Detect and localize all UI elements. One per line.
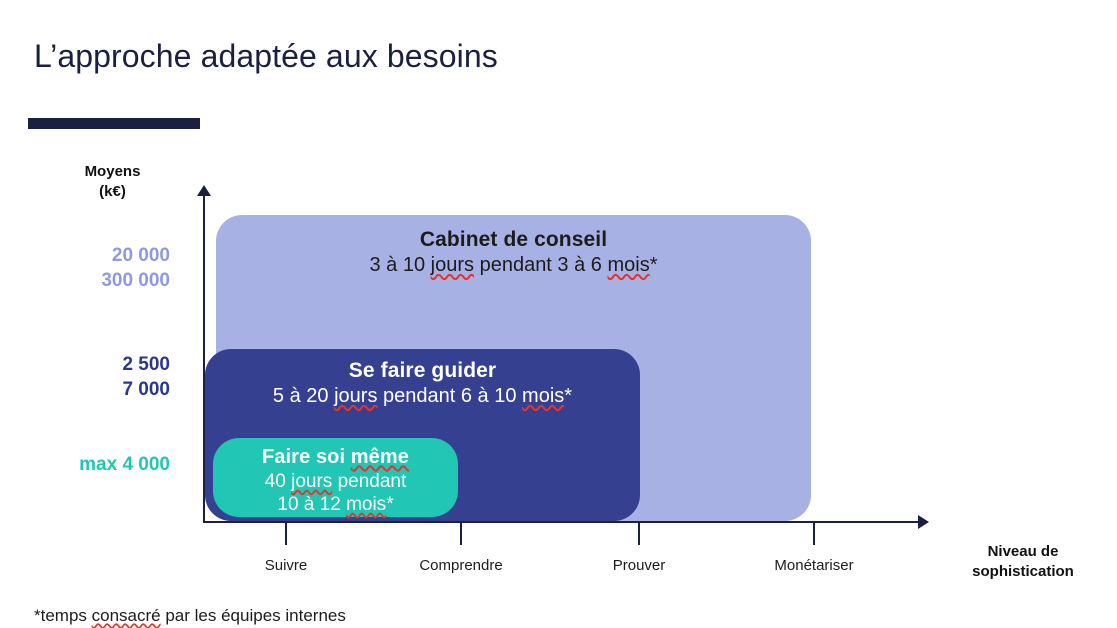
y-axis-title-line2: (k€) [30, 182, 195, 202]
offer-box-subtitle: 3 à 10 jours pendant 3 à 6 mois* [216, 253, 811, 277]
x-tick-mark-suivre [285, 523, 287, 545]
offer-sub-misspelled-jours: jours [334, 385, 377, 407]
y-axis-arrow-icon [197, 185, 211, 196]
offer-box-subtitle-line1: 40 jours pendant [213, 470, 458, 493]
y-label-consulting: 20 000 300 000 [0, 243, 170, 293]
x-axis-title-line1: Niveau de [935, 542, 1111, 562]
offer-sub-part-b: pendant 3 à 6 [474, 254, 607, 276]
offer-sub-asterisk: * [564, 385, 572, 407]
footnote-misspelled-consacre: consacré [92, 606, 161, 625]
offer-box-subtitle-line2: 10 à 12 mois* [213, 493, 458, 516]
x-axis-title: Niveau de sophistication [935, 542, 1111, 582]
x-axis-title-line2: sophistication [935, 562, 1111, 582]
offer-box-subtitle: 5 à 20 jours pendant 6 à 10 mois* [205, 384, 640, 408]
offer-sub-part-b: pendant [332, 471, 406, 492]
x-tick-label-comprendre: Comprendre [376, 557, 546, 574]
y-axis-title-line1: Moyens [30, 162, 195, 182]
title-underline-rule [28, 118, 200, 129]
offer-sub-misspelled-mois: mois [522, 385, 564, 407]
x-tick-label-suivre: Suivre [201, 557, 371, 574]
offer-sub-part-a: 5 à 20 [273, 385, 334, 407]
offer-sub-line2-part-a: 10 à 12 [277, 494, 346, 515]
x-tick-label-prouver: Prouver [554, 557, 724, 574]
offer-box-title: Faire soi même [213, 445, 458, 470]
offer-box-title: Cabinet de conseil [216, 227, 811, 253]
x-tick-mark-monetariser [813, 523, 815, 545]
footnote: *temps consacré par les équipes internes [34, 606, 346, 626]
x-tick-label-monetariser: Monétariser [729, 557, 899, 574]
y-label-guided-line2: 7 000 [0, 377, 170, 402]
footnote-prefix: *temps [34, 606, 92, 625]
offer-sub-part-b: pendant 6 à 10 [377, 385, 522, 407]
x-tick-mark-comprendre [460, 523, 462, 545]
y-label-diy: max 4 000 [0, 452, 170, 477]
y-label-guided-line1: 2 500 [0, 352, 170, 377]
offer-sub-misspelled-mois: mois [607, 254, 649, 276]
offer-sub-misspelled-jours: jours [291, 471, 332, 492]
offer-sub-part-a: 3 à 10 [369, 254, 430, 276]
y-label-consulting-line1: 20 000 [0, 243, 170, 268]
page-title: L’approche adaptée aux besoins [34, 38, 498, 75]
offer-box-faire-soi-meme[interactable]: Faire soi même 40 jours pendant 10 à 12 … [213, 438, 458, 517]
x-axis-arrow-icon [918, 515, 929, 529]
offer-title-part-a: Faire soi [262, 446, 351, 468]
y-label-diy-line1: max 4 000 [0, 452, 170, 477]
footnote-suffix: par les équipes internes [161, 606, 346, 625]
x-tick-mark-prouver [638, 523, 640, 545]
y-label-guided: 2 500 7 000 [0, 352, 170, 402]
offer-sub-asterisk: * [650, 254, 658, 276]
offer-box-title: Se faire guider [205, 358, 640, 384]
offer-title-misspelled-meme: même [351, 446, 409, 468]
y-axis-title: Moyens (k€) [30, 162, 195, 203]
offer-sub-part-a: 40 [265, 471, 291, 492]
offer-sub-misspelled-mois: mois [346, 494, 386, 515]
slide-canvas: L’approche adaptée aux besoins Moyens (k… [0, 0, 1117, 628]
offer-sub-asterisk: * [386, 494, 393, 515]
y-label-consulting-line2: 300 000 [0, 268, 170, 293]
offer-sub-misspelled-jours: jours [431, 254, 474, 276]
